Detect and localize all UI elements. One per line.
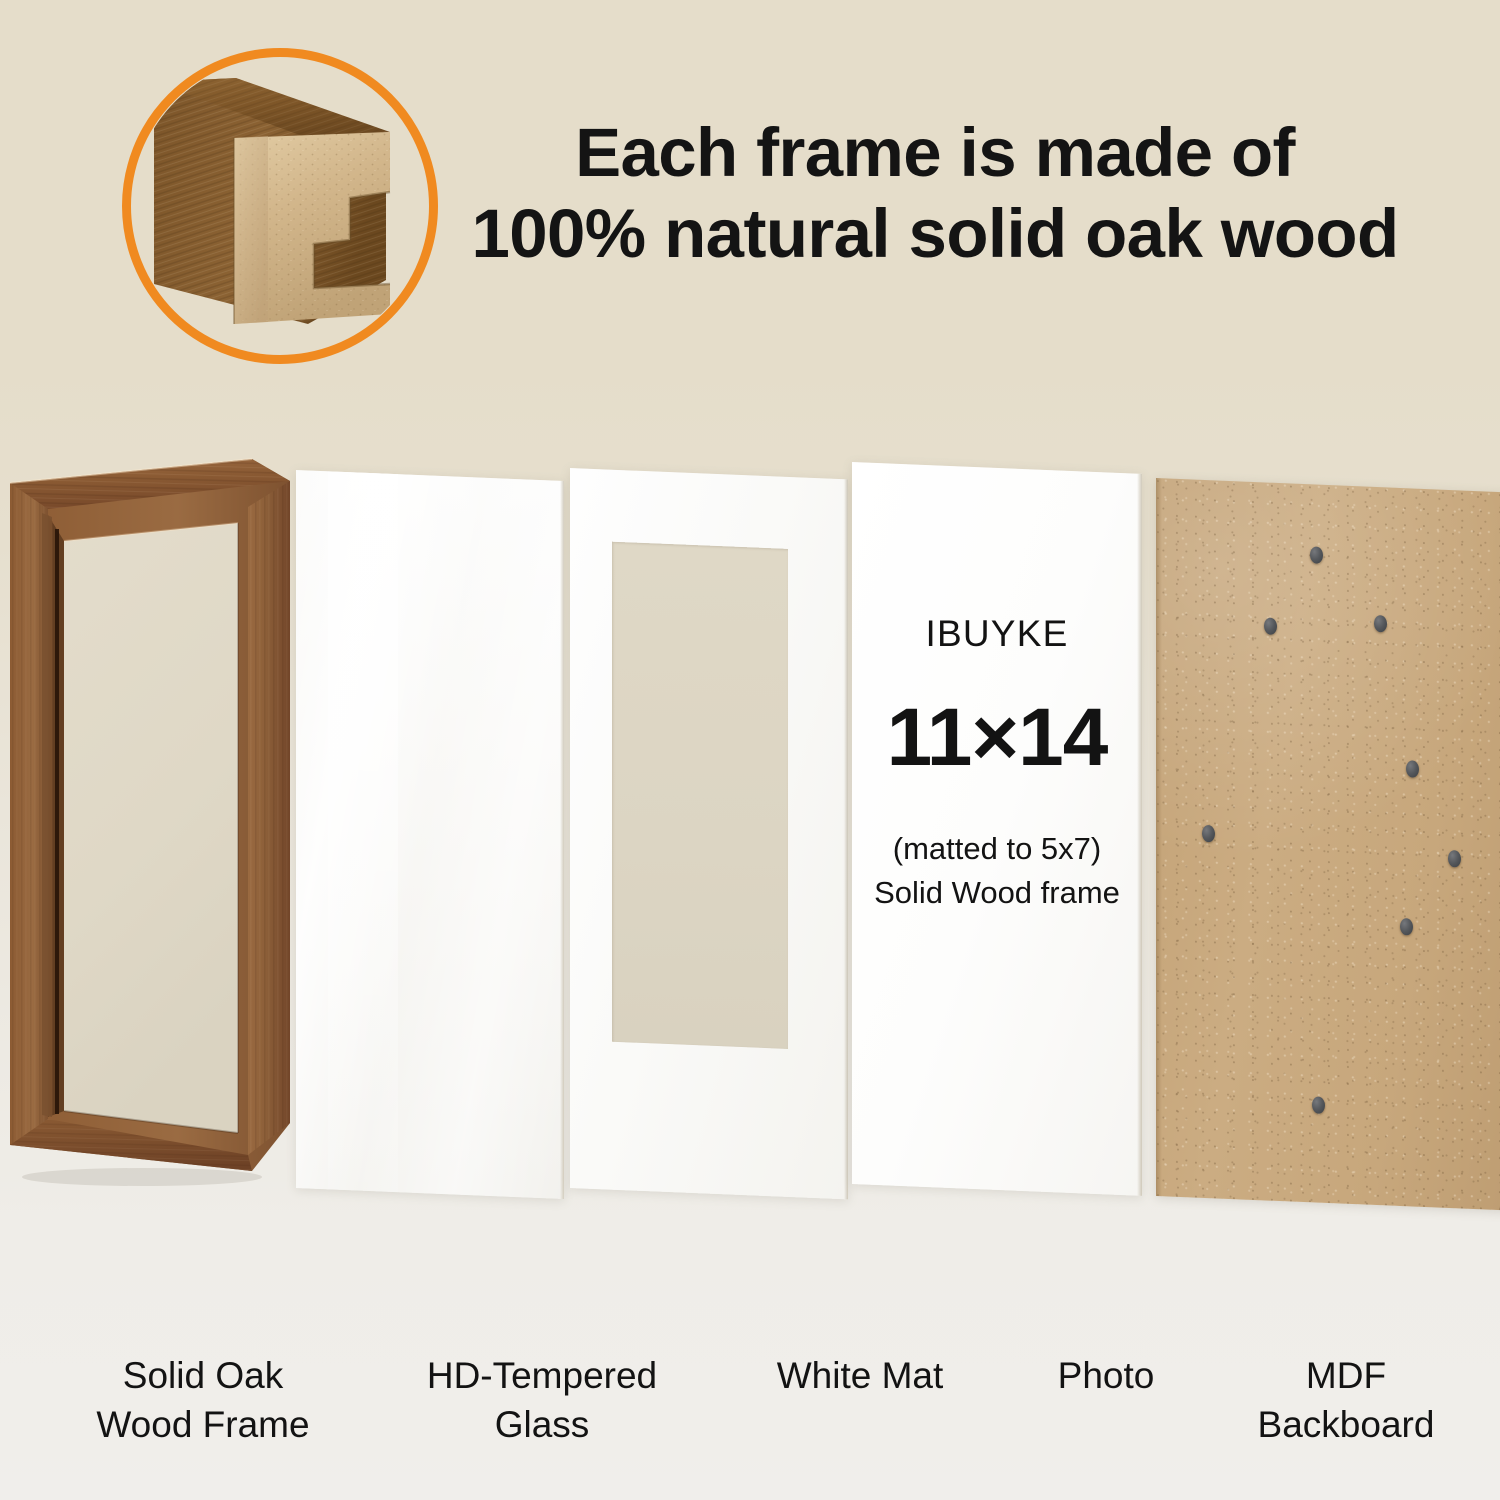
mat-right-edge <box>844 479 848 1199</box>
glass-right-edge <box>560 481 564 1199</box>
photo-size-label: 11×14 <box>852 691 1142 785</box>
component-solid-oak-wood-frame <box>2 455 294 1195</box>
mdf-fastener-tab <box>1406 760 1419 778</box>
component-mdf-backboard <box>1156 478 1500 1211</box>
mdf-fastener-tab <box>1310 546 1323 564</box>
caption-mdf-backboard: MDF Backboard <box>1196 1352 1496 1450</box>
photo-matted-label: (matted to 5x7) <box>852 827 1142 871</box>
component-captions: Solid Oak Wood Frame HD-Tempered Glass W… <box>0 1352 1500 1482</box>
mdf-left-edge <box>1156 478 1162 1196</box>
mdf-fastener-tab <box>1448 850 1461 868</box>
mdf-fastener-tab <box>1264 617 1277 635</box>
mdf-fastener-tab <box>1374 615 1387 633</box>
oak-frame-illustration <box>2 455 294 1195</box>
caption-white-mat: White Mat <box>700 1352 1020 1401</box>
product-infographic: Each frame is made of 100% natural solid… <box>0 0 1500 1500</box>
photo-material-label: Solid Wood frame <box>852 871 1142 915</box>
mdf-fastener-tab <box>1202 825 1215 843</box>
mdf-fastener-tab <box>1312 1096 1325 1114</box>
caption-solid-oak-wood-frame: Solid Oak Wood Frame <box>18 1352 388 1450</box>
component-white-mat <box>570 468 848 1199</box>
mdf-fastener-tab <box>1400 918 1413 936</box>
caption-hd-tempered-glass: HD-Tempered Glass <box>372 1352 712 1450</box>
photo-label-group: IBUYKE 11×14 (matted to 5x7) Solid Wood … <box>852 613 1142 915</box>
mat-aperture <box>612 542 788 1049</box>
mdf-texture <box>1156 478 1500 1211</box>
component-hd-tempered-glass <box>296 470 564 1199</box>
component-photo: IBUYKE 11×14 (matted to 5x7) Solid Wood … <box>852 462 1142 1196</box>
photo-brand-label: IBUYKE <box>852 613 1142 655</box>
glass-sheen <box>328 471 398 1192</box>
caption-photo: Photo <box>1000 1352 1212 1401</box>
exploded-view-diagram: IBUYKE 11×14 (matted to 5x7) Solid Wood … <box>0 0 1500 1290</box>
